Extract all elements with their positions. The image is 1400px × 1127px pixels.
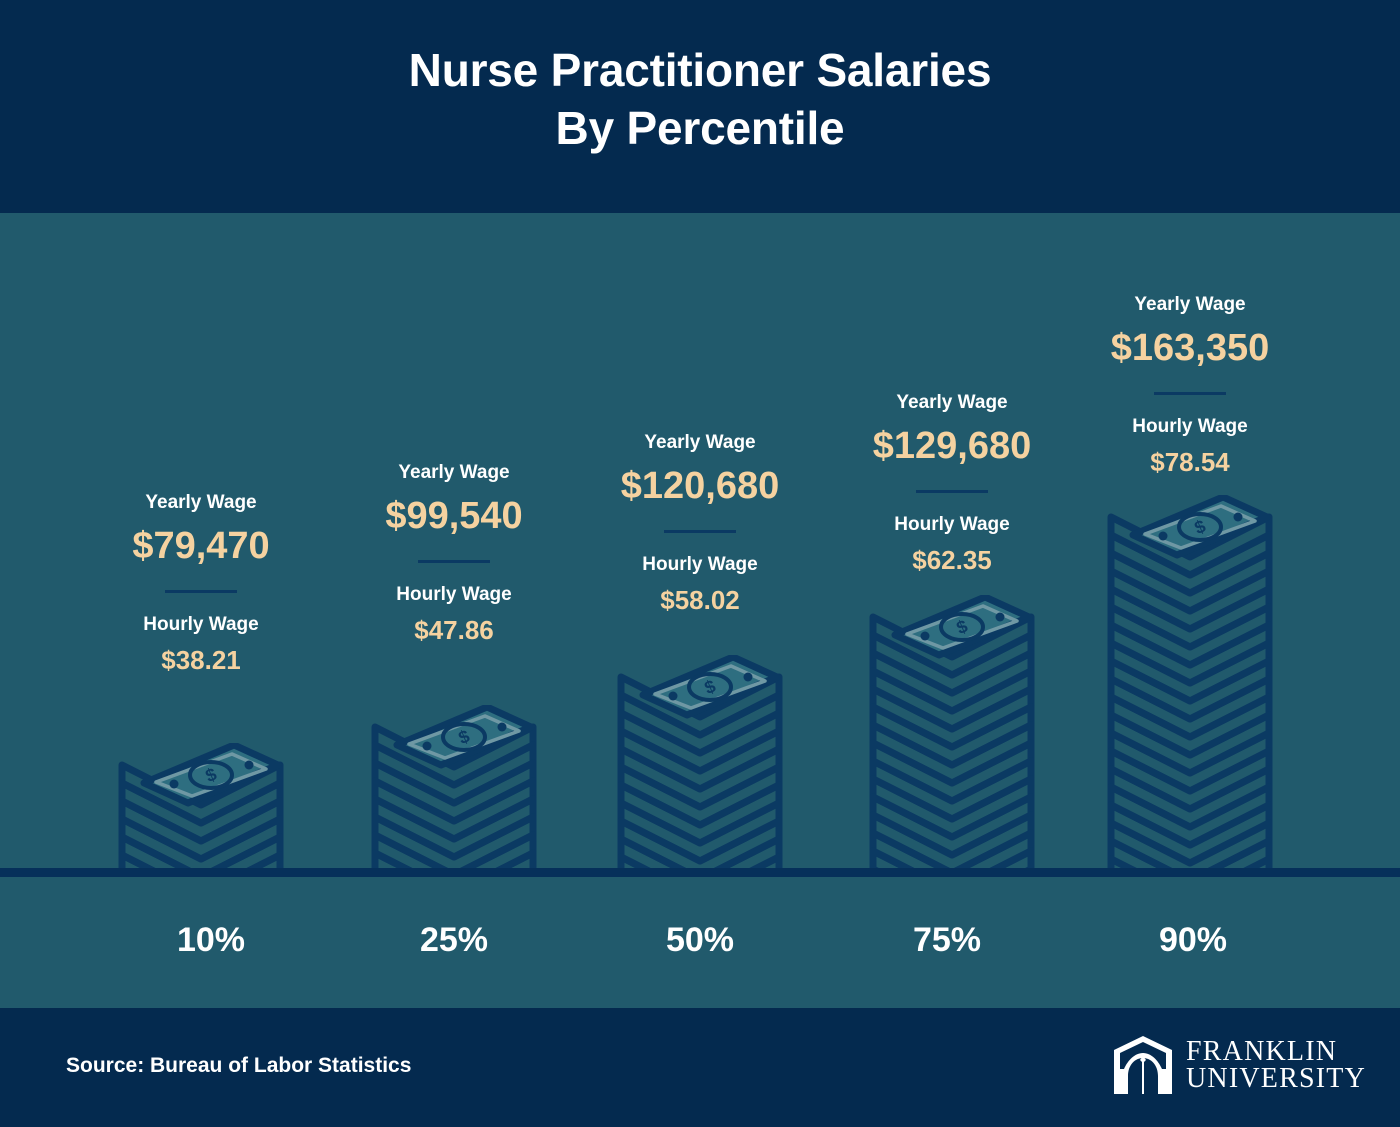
money-stack-90: $ xyxy=(1107,495,1273,873)
axis-baseline xyxy=(0,868,1400,877)
chart-column-10: Yearly Wage $79,470 Hourly Wage $38.21 xyxy=(86,213,316,873)
hourly-wage-label: Hourly Wage xyxy=(585,555,815,576)
column-labels-25: Yearly Wage $99,540 Hourly Wage $47.86 xyxy=(339,463,569,644)
hourly-wage-label: Hourly Wage xyxy=(1075,417,1305,438)
infographic-root: Nurse Practitioner Salaries By Percentil… xyxy=(0,0,1400,1127)
column-labels-10: Yearly Wage $79,470 Hourly Wage $38.21 xyxy=(86,493,316,674)
money-stack-10: $ xyxy=(118,743,284,873)
money-stack-50: $ xyxy=(617,655,783,873)
yearly-wage-label: Yearly Wage xyxy=(1075,295,1305,316)
label-divider xyxy=(1154,392,1226,395)
hourly-wage-value: $47.86 xyxy=(339,616,569,645)
axis-tick-25: 25% xyxy=(339,921,569,960)
logo-wordmark: FRANKLIN UNIVERSITY xyxy=(1186,1038,1366,1093)
chart-column-50: Yearly Wage $120,680 Hourly Wage $58.02 xyxy=(585,213,815,873)
label-divider xyxy=(418,560,490,563)
yearly-wage-value: $79,470 xyxy=(86,526,316,568)
arch-gateway-icon xyxy=(1112,1036,1174,1094)
chart-column-25: Yearly Wage $99,540 Hourly Wage $47.86 xyxy=(339,213,569,873)
chart-column-90: Yearly Wage $163,350 Hourly Wage $78.54 xyxy=(1075,213,1305,873)
title-line-1: Nurse Practitioner Salaries xyxy=(0,42,1400,100)
hourly-wage-value: $62.35 xyxy=(837,546,1067,575)
logo-word-franklin: FRANKLIN xyxy=(1186,1038,1366,1065)
money-stack-75: $ xyxy=(869,595,1035,873)
yearly-wage-label: Yearly Wage xyxy=(837,393,1067,414)
axis-tick-10: 10% xyxy=(96,921,326,960)
money-stack-icon: $ xyxy=(617,655,783,873)
franklin-university-logo[interactable]: FRANKLIN UNIVERSITY xyxy=(1112,1036,1366,1094)
source-attribution: Source: Bureau of Labor Statistics xyxy=(66,1054,411,1078)
hourly-wage-value: $58.02 xyxy=(585,586,815,615)
yearly-wage-value: $120,680 xyxy=(585,466,815,508)
money-stack-icon: $ xyxy=(869,595,1035,873)
column-labels-75: Yearly Wage $129,680 Hourly Wage $62.35 xyxy=(837,393,1067,574)
money-stack-icon: $ xyxy=(371,705,537,873)
label-divider xyxy=(165,590,237,593)
page-title: Nurse Practitioner Salaries By Percentil… xyxy=(0,42,1400,158)
axis-tick-50: 50% xyxy=(585,921,815,960)
column-labels-90: Yearly Wage $163,350 Hourly Wage $78.54 xyxy=(1075,295,1305,476)
hourly-wage-label: Hourly Wage xyxy=(86,615,316,636)
chart-column-75: Yearly Wage $129,680 Hourly Wage $62.35 xyxy=(837,213,1067,873)
yearly-wage-value: $129,680 xyxy=(837,426,1067,468)
logo-word-university: UNIVERSITY xyxy=(1186,1065,1366,1092)
hourly-wage-value: $38.21 xyxy=(86,646,316,675)
yearly-wage-label: Yearly Wage xyxy=(585,433,815,454)
column-labels-50: Yearly Wage $120,680 Hourly Wage $58.02 xyxy=(585,433,815,614)
yearly-wage-value: $163,350 xyxy=(1075,328,1305,370)
label-divider xyxy=(664,530,736,533)
title-line-2: By Percentile xyxy=(0,100,1400,158)
axis-tick-75: 75% xyxy=(832,921,1062,960)
label-divider xyxy=(916,490,988,493)
money-stack-icon: $ xyxy=(1107,495,1273,873)
x-axis-labels: 10% 25% 50% 75% 90% xyxy=(0,877,1400,1008)
hourly-wage-label: Hourly Wage xyxy=(837,515,1067,536)
yearly-wage-label: Yearly Wage xyxy=(339,463,569,484)
money-stack-icon: $ xyxy=(118,743,284,873)
hourly-wage-label: Hourly Wage xyxy=(339,585,569,606)
yearly-wage-label: Yearly Wage xyxy=(86,493,316,514)
yearly-wage-value: $99,540 xyxy=(339,496,569,538)
money-stack-25: $ xyxy=(371,705,537,873)
axis-tick-90: 90% xyxy=(1078,921,1308,960)
hourly-wage-value: $78.54 xyxy=(1075,448,1305,477)
